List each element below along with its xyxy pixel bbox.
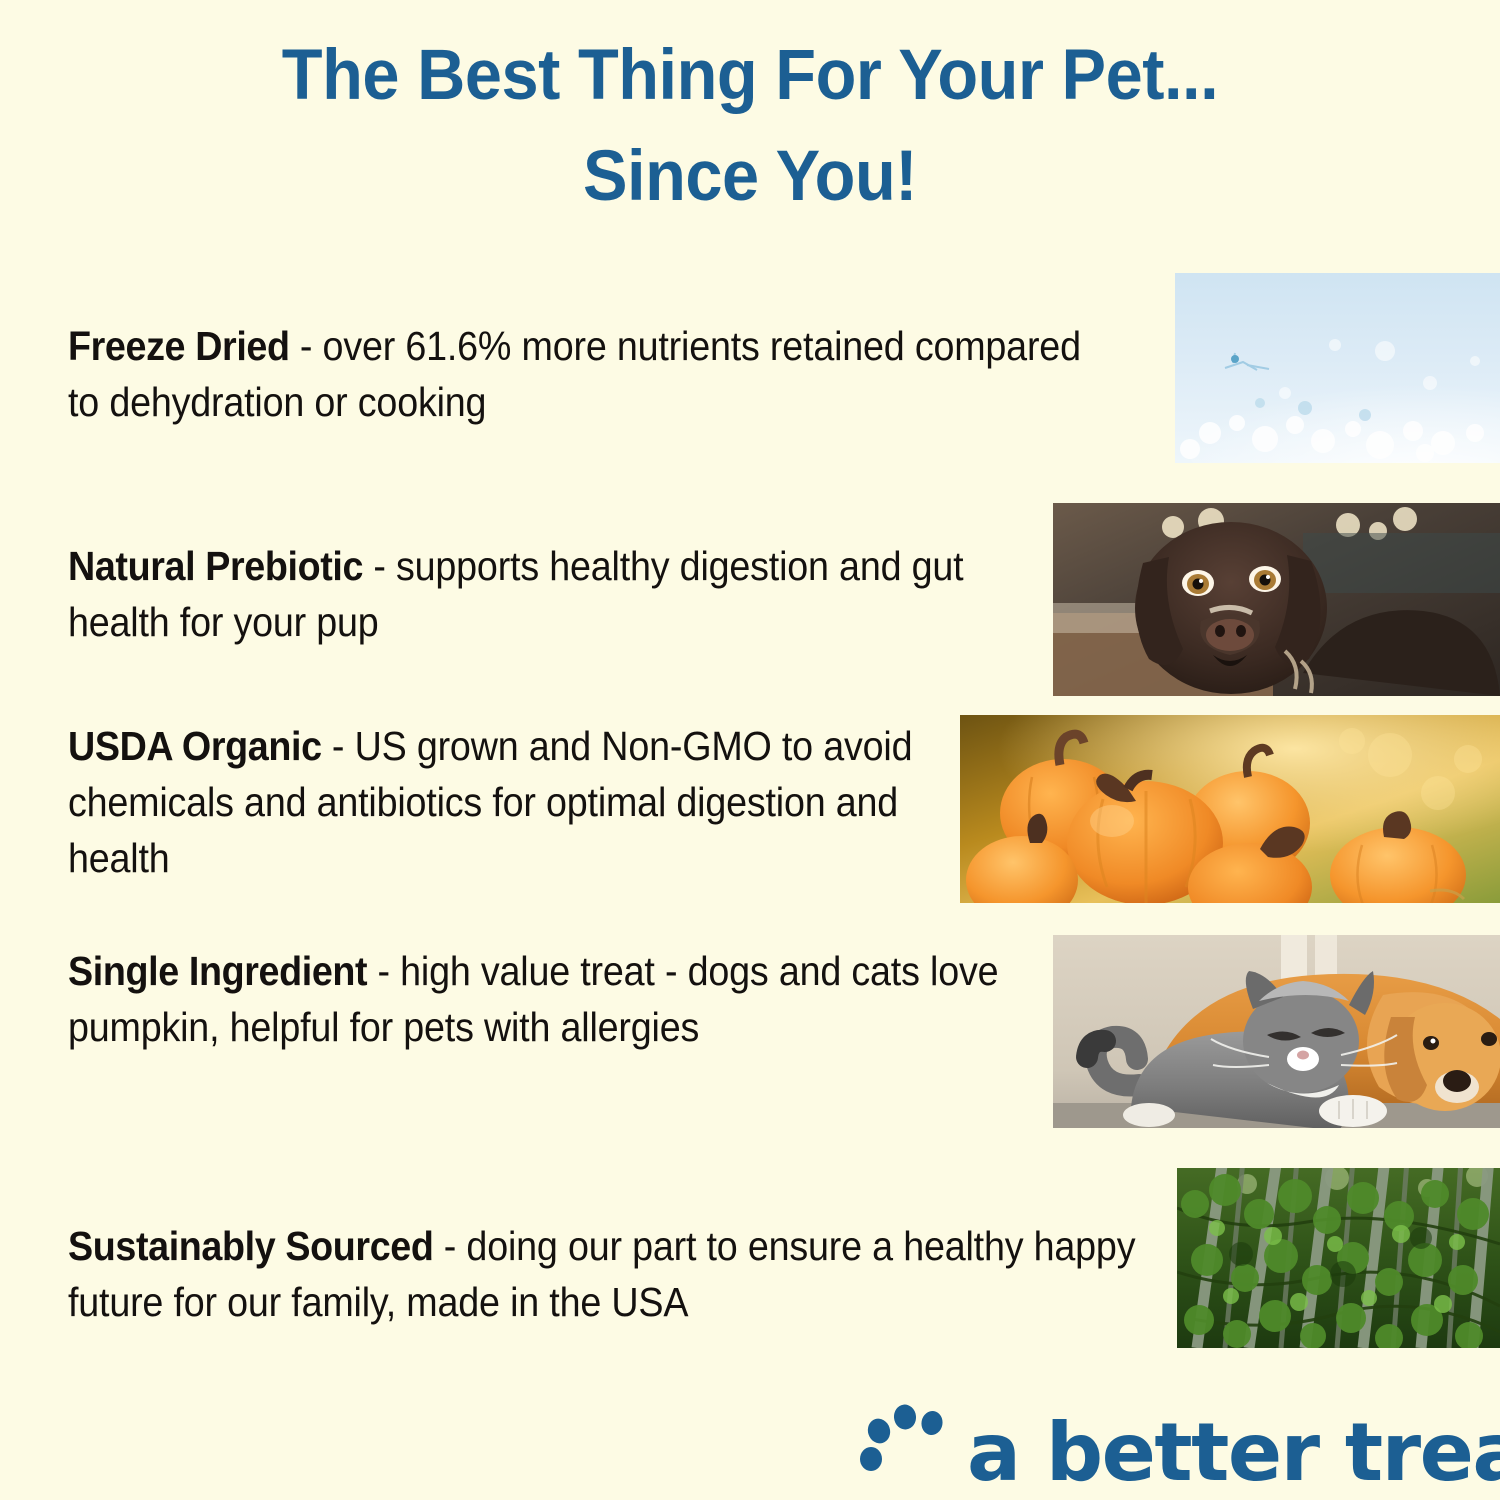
feature-title: Single Ingredient xyxy=(68,948,367,994)
feature-natural-prebiotic: Natural Prebiotic - supports healthy dig… xyxy=(68,538,1045,650)
page-title: The Best Thing For Your Pet... Since You… xyxy=(45,26,1455,228)
feature-title: USDA Organic xyxy=(68,723,322,769)
feature-separator: - xyxy=(434,1223,467,1269)
infographic-page: The Best Thing For Your Pet... Since You… xyxy=(0,0,1500,1500)
brand-wordmark: a better treat xyxy=(967,1398,1500,1500)
feature-separator: - xyxy=(367,948,400,994)
feature-title: Natural Prebiotic xyxy=(68,543,363,589)
feature-title: Sustainably Sourced xyxy=(68,1223,434,1269)
ice-crystals-photo xyxy=(1175,273,1500,463)
feature-sustainably-sourced: Sustainably Sourced - doing our part to … xyxy=(68,1218,1179,1330)
chocolate-labrador-photo xyxy=(1053,503,1500,696)
feature-usda-organic: USDA Organic - US grown and Non-GMO to a… xyxy=(68,718,998,886)
feature-title: Freeze Dried xyxy=(68,323,290,369)
forest-photo xyxy=(1177,1168,1500,1348)
feature-separator: - xyxy=(363,543,396,589)
feature-separator: - xyxy=(322,723,355,769)
pumpkins-photo xyxy=(960,715,1500,903)
feature-separator: - xyxy=(290,323,323,369)
feature-single-ingredient: Single Ingredient - high value treat - d… xyxy=(68,943,1040,1055)
paw-print-icon xyxy=(855,1404,973,1500)
cat-and-dog-photo xyxy=(1053,935,1500,1128)
feature-freeze-dried: Freeze Dried - over 61.6% more nutrients… xyxy=(68,318,1114,430)
brand-logo: a better treat xyxy=(855,1398,1475,1500)
